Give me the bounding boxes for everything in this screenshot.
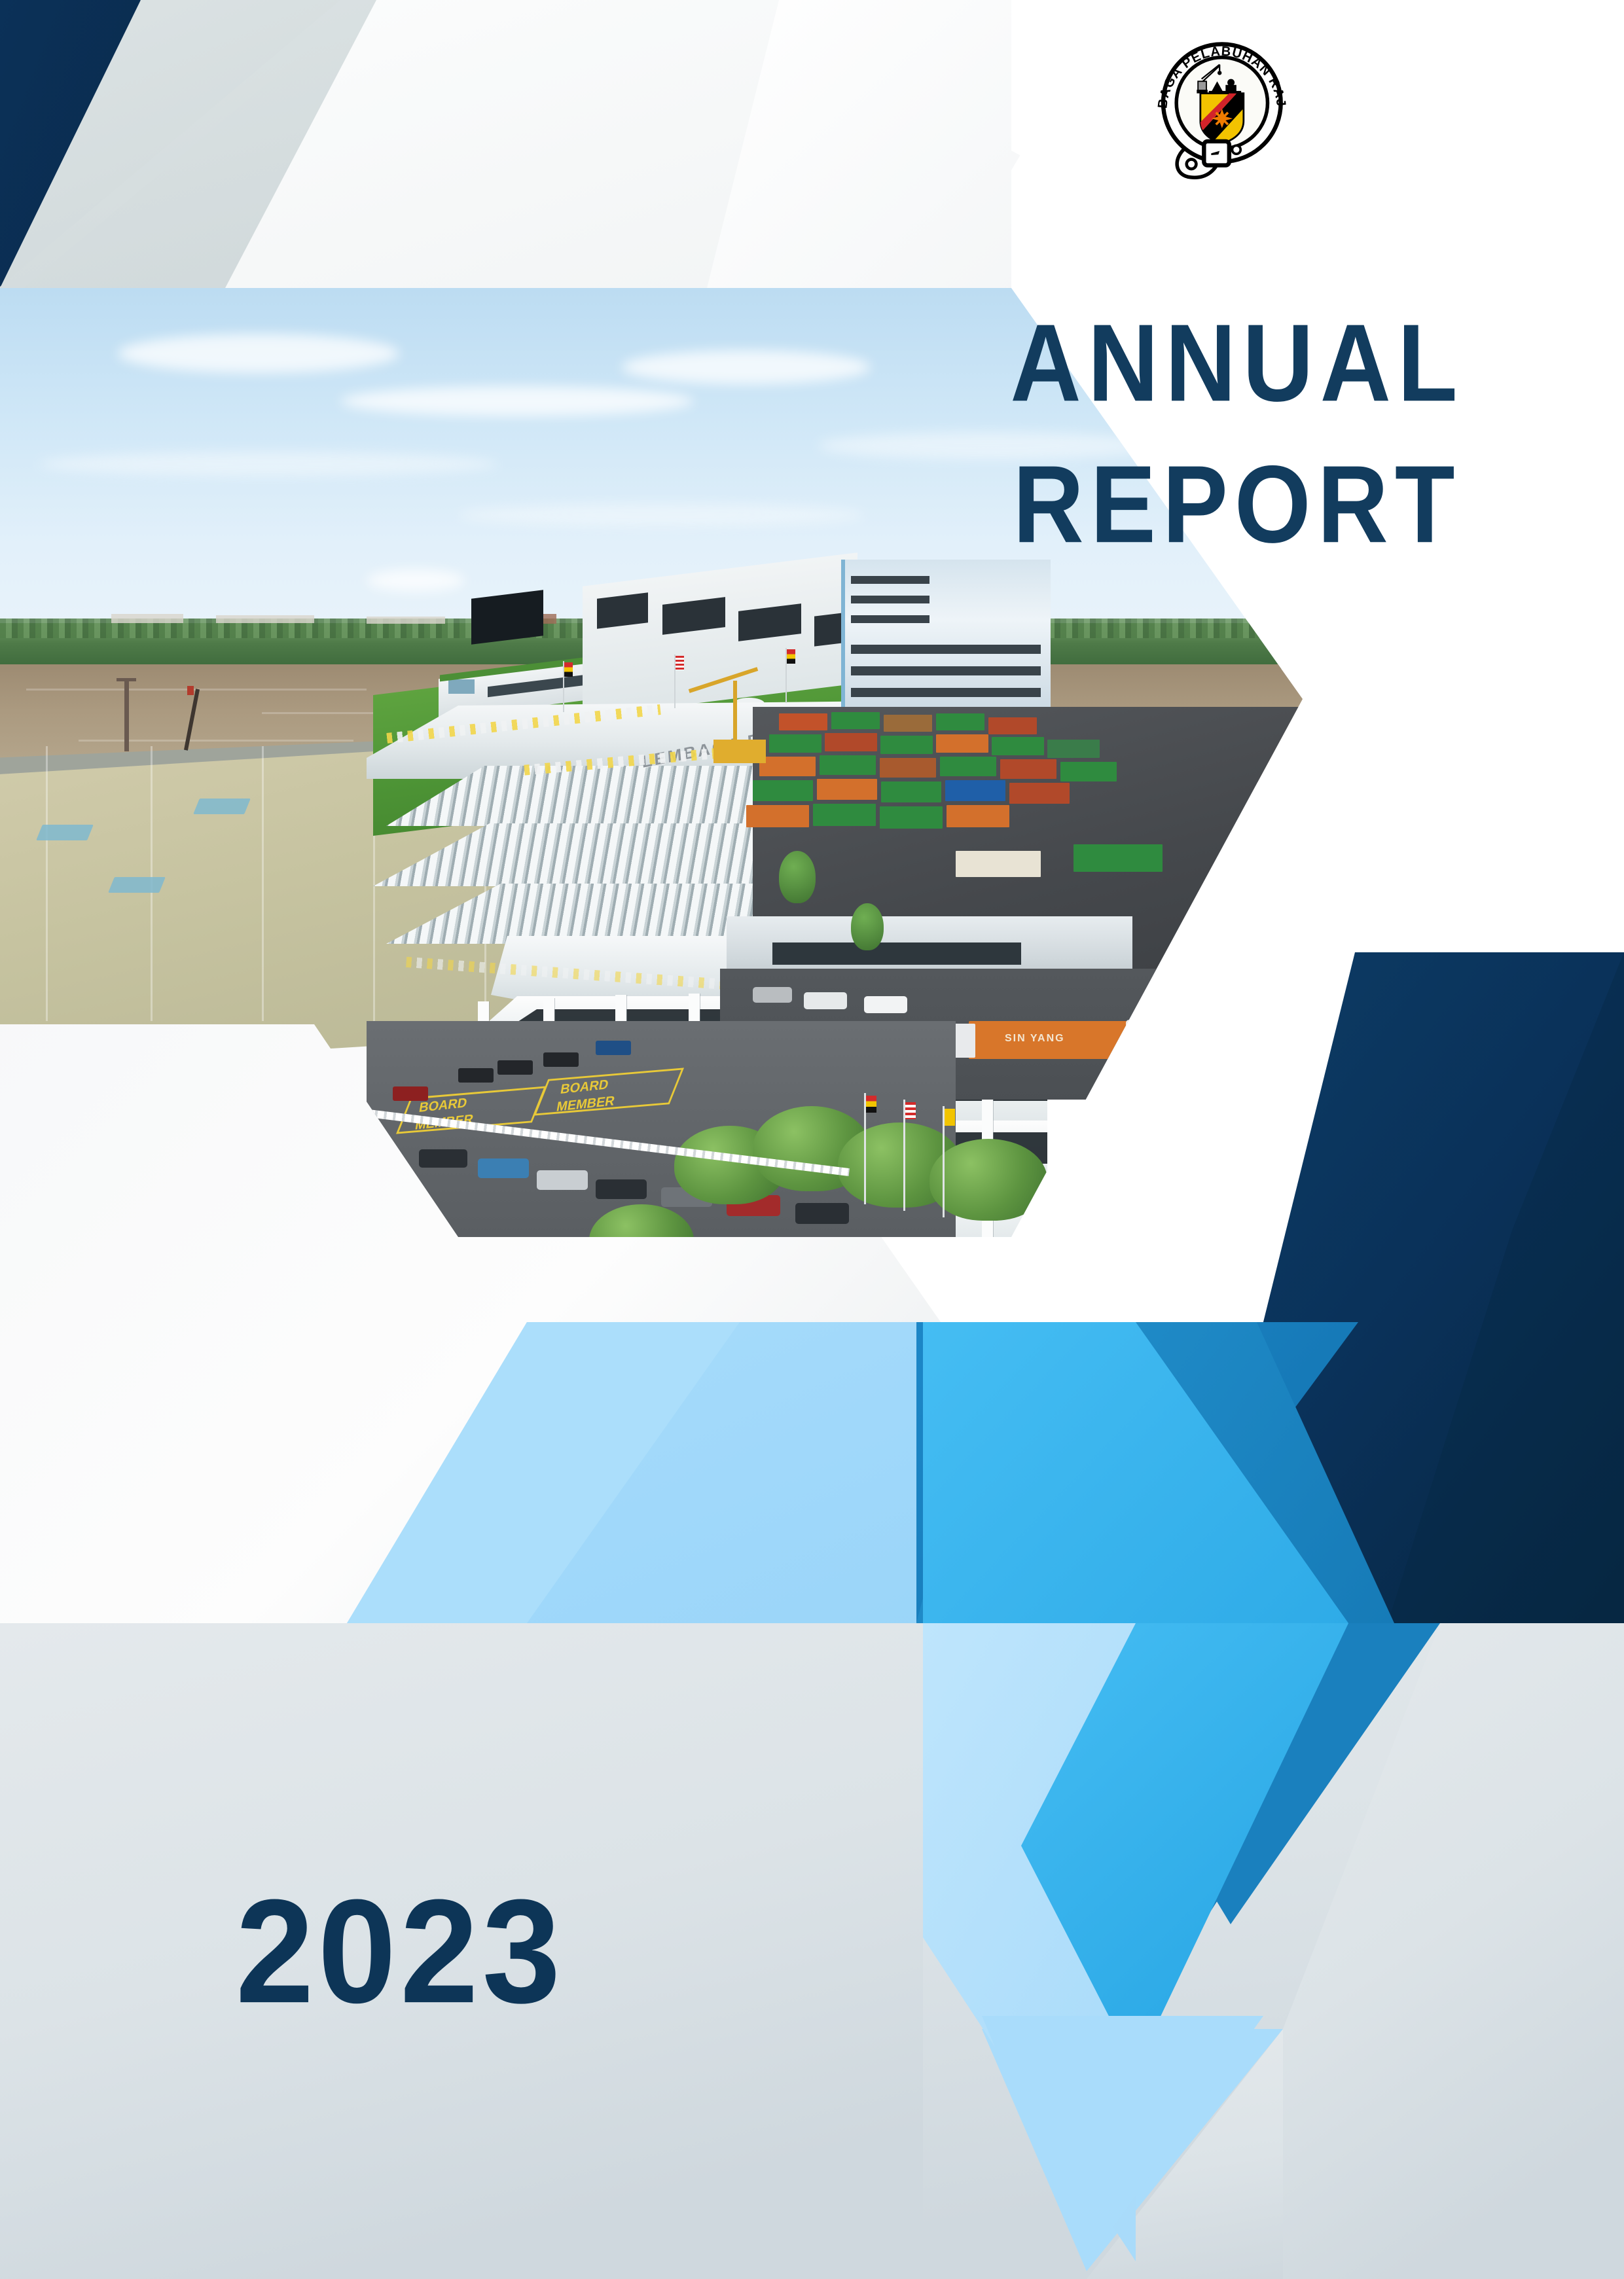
container (947, 805, 1009, 827)
flag-sarawak (564, 662, 573, 677)
container (992, 737, 1044, 755)
container (825, 733, 877, 751)
flag-yellow (945, 1109, 955, 1126)
annual-report-cover: LEMBAGA PELABUHAN RAJANG (0, 0, 1624, 2279)
container (769, 734, 821, 753)
shop-glazing (772, 942, 1021, 965)
building-window (851, 688, 1041, 697)
lembaga-pelabuhan-rajang-logo: LEMBAGA PELABUHAN RAJANG (1149, 29, 1293, 180)
building-window (851, 615, 929, 623)
far-building (111, 614, 183, 623)
container-white (956, 851, 1041, 877)
motorcycle (543, 1052, 579, 1067)
flag-malaysia (676, 656, 684, 670)
container-label: SIN YANG (1005, 1033, 1065, 1045)
container (753, 780, 813, 801)
roof-seam (46, 746, 48, 1021)
crane-top (117, 678, 136, 681)
roof-skylight (36, 825, 94, 840)
motorcycle (393, 1086, 428, 1101)
tree (851, 903, 884, 950)
container (936, 713, 984, 730)
car (419, 1149, 467, 1168)
logo-tag-hole (1232, 145, 1240, 154)
cloud (458, 504, 864, 526)
container (1009, 783, 1070, 804)
container (884, 715, 932, 732)
container (759, 757, 816, 776)
cover-year: 2023 (236, 1877, 564, 2025)
roof-skylight (108, 877, 166, 893)
motorcycle (596, 1041, 631, 1055)
cloud (39, 452, 497, 476)
river-streak (79, 740, 353, 742)
container (1047, 740, 1100, 758)
building-window (851, 666, 1041, 675)
cover-title-block: ANNUAL REPORT (1001, 308, 1473, 547)
building-window (851, 596, 929, 603)
gantry-body (713, 740, 766, 763)
motorcycle (497, 1060, 533, 1075)
container (945, 780, 1005, 801)
cloud (622, 350, 871, 384)
container (820, 755, 876, 775)
container (936, 734, 988, 753)
container (880, 758, 936, 778)
car (804, 992, 847, 1009)
cloud (118, 334, 399, 373)
container (1074, 844, 1163, 872)
title-line-annual: ANNUAL (1001, 308, 1473, 418)
car (478, 1158, 529, 1178)
container (880, 806, 943, 829)
crane-mast (124, 679, 129, 751)
tree (779, 851, 816, 903)
title-line-report: REPORT (1001, 449, 1473, 559)
container (817, 779, 877, 800)
container (881, 781, 941, 802)
container (880, 736, 933, 754)
flag-malaysia (905, 1102, 916, 1119)
car (753, 987, 792, 1003)
roof-skylight (193, 799, 251, 814)
container (813, 804, 876, 826)
tower-window (597, 592, 648, 629)
flag-sarawak (866, 1096, 876, 1113)
tower-opening (471, 590, 543, 645)
motorcycle (458, 1068, 494, 1083)
car (537, 1170, 588, 1190)
roof-seam (262, 746, 264, 1021)
car (596, 1179, 647, 1199)
rooftop-hut-door (448, 679, 475, 694)
car (795, 1203, 849, 1224)
shackle-hole (1187, 159, 1197, 169)
container (940, 757, 996, 776)
car (864, 996, 907, 1013)
container (746, 805, 809, 827)
container (1000, 759, 1056, 779)
container (988, 717, 1037, 734)
container (1060, 762, 1117, 781)
flag-sarawak (787, 649, 795, 664)
container (831, 712, 880, 729)
container (779, 713, 827, 730)
far-building (216, 615, 314, 623)
cloud (340, 386, 694, 416)
building-window (851, 645, 1041, 654)
crane-cab (187, 686, 194, 695)
building-window (851, 576, 929, 584)
